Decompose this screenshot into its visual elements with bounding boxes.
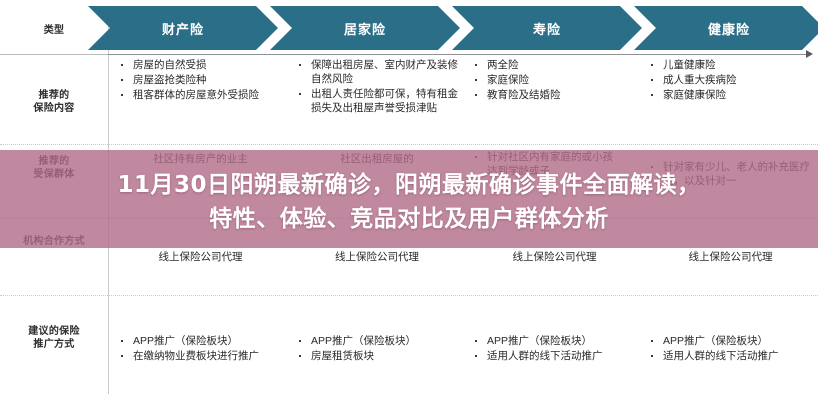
list-item: 儿童健康险 [648,58,813,72]
cell-partner-health: 线上保险公司代理 [648,250,813,265]
list-item: 在缴纳物业费板块进行推广 [118,349,283,363]
row-label-type: 类型 [0,24,108,37]
list-item: 两全险 [472,58,637,72]
cell-content-home: 保障出租房屋、室内财产及装修自然风险 出租人责任险都可保，特有租金损失及出租屋声… [296,58,458,116]
list-item: APP推广（保险板块） [296,334,458,348]
row-label-line: 类型 [0,24,108,37]
row-label-line1: 推荐的 [0,89,108,102]
row-separator-4 [0,295,818,296]
list-item: 家庭健康保险 [648,88,813,102]
list-item: 适用人群的线下活动推广 [472,349,632,363]
bullet-list: APP推广（保险板块） 在缴纳物业费板块进行推广 [118,334,283,363]
list-item: 成人重大疾病险 [648,73,813,87]
list-item: APP推广（保险板块） [648,334,808,348]
list-item: 房屋租赁板块 [296,349,458,363]
chevron-health-insurance[interactable]: 健康险 [634,6,818,50]
list-item: 房屋的自然受损 [118,58,283,72]
row-separator-2 [0,144,818,145]
cell-content-property: 房屋的自然受损 房屋盗抢类险种 租客群体的房屋意外受损险 [118,58,283,103]
list-item: 房屋盗抢类险种 [118,73,283,87]
cell-text: 线上保险公司代理 [648,250,813,265]
bullet-list: APP推广（保险板块） 适用人群的线下活动推广 [648,334,808,363]
bullet-list: APP推广（保险板块） 适用人群的线下活动推广 [472,334,632,363]
cell-content-health: 儿童健康险 成人重大疾病险 家庭健康保险 [648,58,813,103]
row-label-line2: 推广方式 [0,338,108,351]
list-item: APP推广（保险板块） [118,334,283,348]
cell-promo-health: APP推广（保险板块） 适用人群的线下活动推广 [648,334,808,364]
cell-partner-home: 线上保险公司代理 [296,250,458,265]
chevron-life-insurance[interactable]: 寿险 [452,6,642,50]
cell-text: 线上保险公司代理 [472,250,637,265]
bullet-list: APP推广（保险板块） 房屋租赁板块 [296,334,458,363]
arrow-right-icon [806,50,813,58]
slide-canvas: 财产险 居家险 寿险 健康险 类型 推荐的 保险内容 推荐的 受保群体 机构合作… [0,0,818,400]
list-item: APP推广（保险板块） [472,334,632,348]
category-chevron-bar: 财产险 居家险 寿险 健康险 [88,6,818,50]
list-item: 适用人群的线下活动推广 [648,349,808,363]
list-item: 租客群体的房屋意外受损险 [118,88,283,102]
row-label-promotion: 建议的保险 推广方式 [0,325,108,351]
row-separator-1 [0,54,108,55]
list-item: 出租人责任险都可保，特有租金损失及出租屋声誉受损津贴 [296,87,458,115]
cell-text: 线上保险公司代理 [296,250,458,265]
row-label-line2: 保险内容 [0,102,108,115]
cell-content-life: 两全险 家庭保险 教育险及结婚险 [472,58,637,103]
chevron-label: 居家险 [344,19,386,38]
cell-promo-life: APP推广（保险板块） 适用人群的线下活动推广 [472,334,632,364]
bullet-list: 两全险 家庭保险 教育险及结婚险 [472,58,637,102]
chevron-label: 寿险 [533,19,561,38]
chevron-label: 财产险 [162,19,204,38]
row-label-line1: 建议的保险 [0,325,108,338]
list-item: 家庭保险 [472,73,637,87]
timeline-axis-line [108,54,808,55]
bullet-list: 保障出租房屋、室内财产及装修自然风险 出租人责任险都可保，特有租金损失及出租屋声… [296,58,458,115]
list-item: 保障出租房屋、室内财产及装修自然风险 [296,58,458,86]
headline-text: 11月30日阳朔最新确诊，阳朔最新确诊事件全面解读， 特性、体验、竞品对比及用户… [0,168,818,236]
cell-promo-property: APP推广（保险板块） 在缴纳物业费板块进行推广 [118,334,283,364]
chevron-property-insurance[interactable]: 财产险 [88,6,278,50]
chevron-home-insurance[interactable]: 居家险 [270,6,460,50]
cell-partner-property: 线上保险公司代理 [118,250,283,265]
cell-partner-life: 线上保险公司代理 [472,250,637,265]
bullet-list: 儿童健康险 成人重大疾病险 家庭健康保险 [648,58,813,102]
list-item: 教育险及结婚险 [472,88,637,102]
cell-text: 线上保险公司代理 [118,250,283,265]
bullet-list: 房屋的自然受损 房屋盗抢类险种 租客群体的房屋意外受损险 [118,58,283,102]
chevron-label: 健康险 [708,19,750,38]
row-label-recommended-content: 推荐的 保险内容 [0,89,108,115]
cell-promo-home: APP推广（保险板块） 房屋租赁板块 [296,334,458,364]
